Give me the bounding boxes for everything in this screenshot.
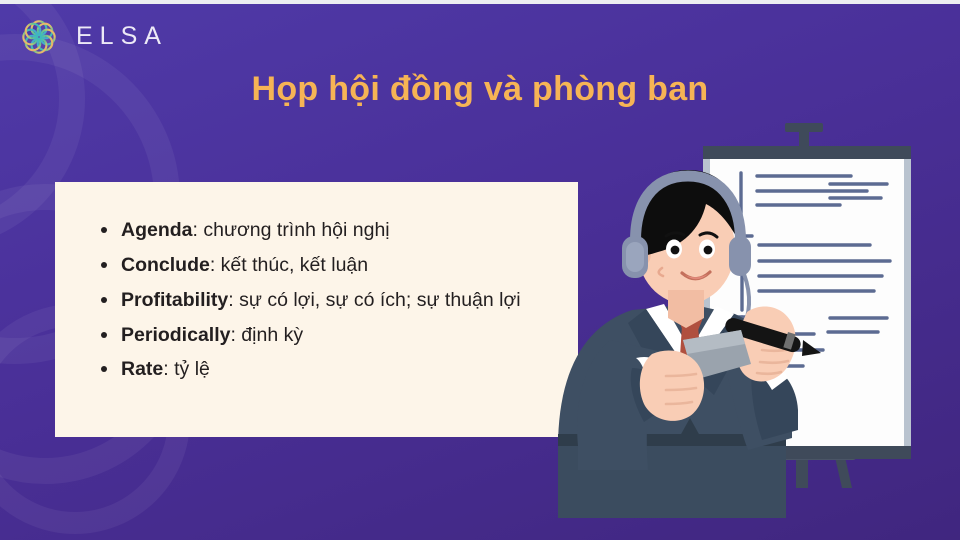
slide-canvas: ELSA Họp hội đồng và phòng ban Agenda: c…	[0, 0, 960, 540]
term-definition: : chương trình hội nghị	[193, 219, 390, 241]
list-item: Agenda: chương trình hội nghị	[99, 216, 552, 245]
term-label: Profitability	[121, 289, 228, 311]
man-with-headphones-presenting-at-flipchart-illustration	[540, 118, 960, 540]
term-definition: : sự có lợi, sự có ích; sự thuận lợi	[228, 289, 520, 311]
term-label: Conclude	[121, 254, 210, 276]
term-label: Rate	[121, 358, 163, 380]
list-item: Periodically: định kỳ	[99, 321, 552, 350]
list-item: Rate: tỷ lệ	[99, 355, 552, 384]
brand-name: ELSA	[76, 24, 168, 51]
term-label: Periodically	[121, 324, 230, 346]
list-item: Conclude: kết thúc, kết luận	[99, 251, 552, 280]
board-top-bar	[703, 146, 911, 159]
term-label: Agenda	[121, 219, 193, 241]
term-definition: : tỷ lệ	[163, 358, 210, 380]
term-definition: : kết thúc, kết luận	[210, 254, 368, 276]
list-item: Profitability: sự có lợi, sự có ích; sự …	[99, 286, 552, 315]
page-title: Họp hội đồng và phòng ban	[0, 70, 960, 109]
easel-hanger-icon	[785, 123, 823, 147]
vocabulary-list: Agenda: chương trình hội nghị Conclude: …	[55, 182, 578, 384]
vocabulary-card: Agenda: chương trình hội nghị Conclude: …	[55, 182, 578, 437]
term-definition: : định kỳ	[230, 324, 303, 346]
brand-logo: ELSA	[16, 14, 168, 60]
elsa-flower-logo-icon	[16, 14, 62, 60]
left-hand	[640, 350, 704, 420]
